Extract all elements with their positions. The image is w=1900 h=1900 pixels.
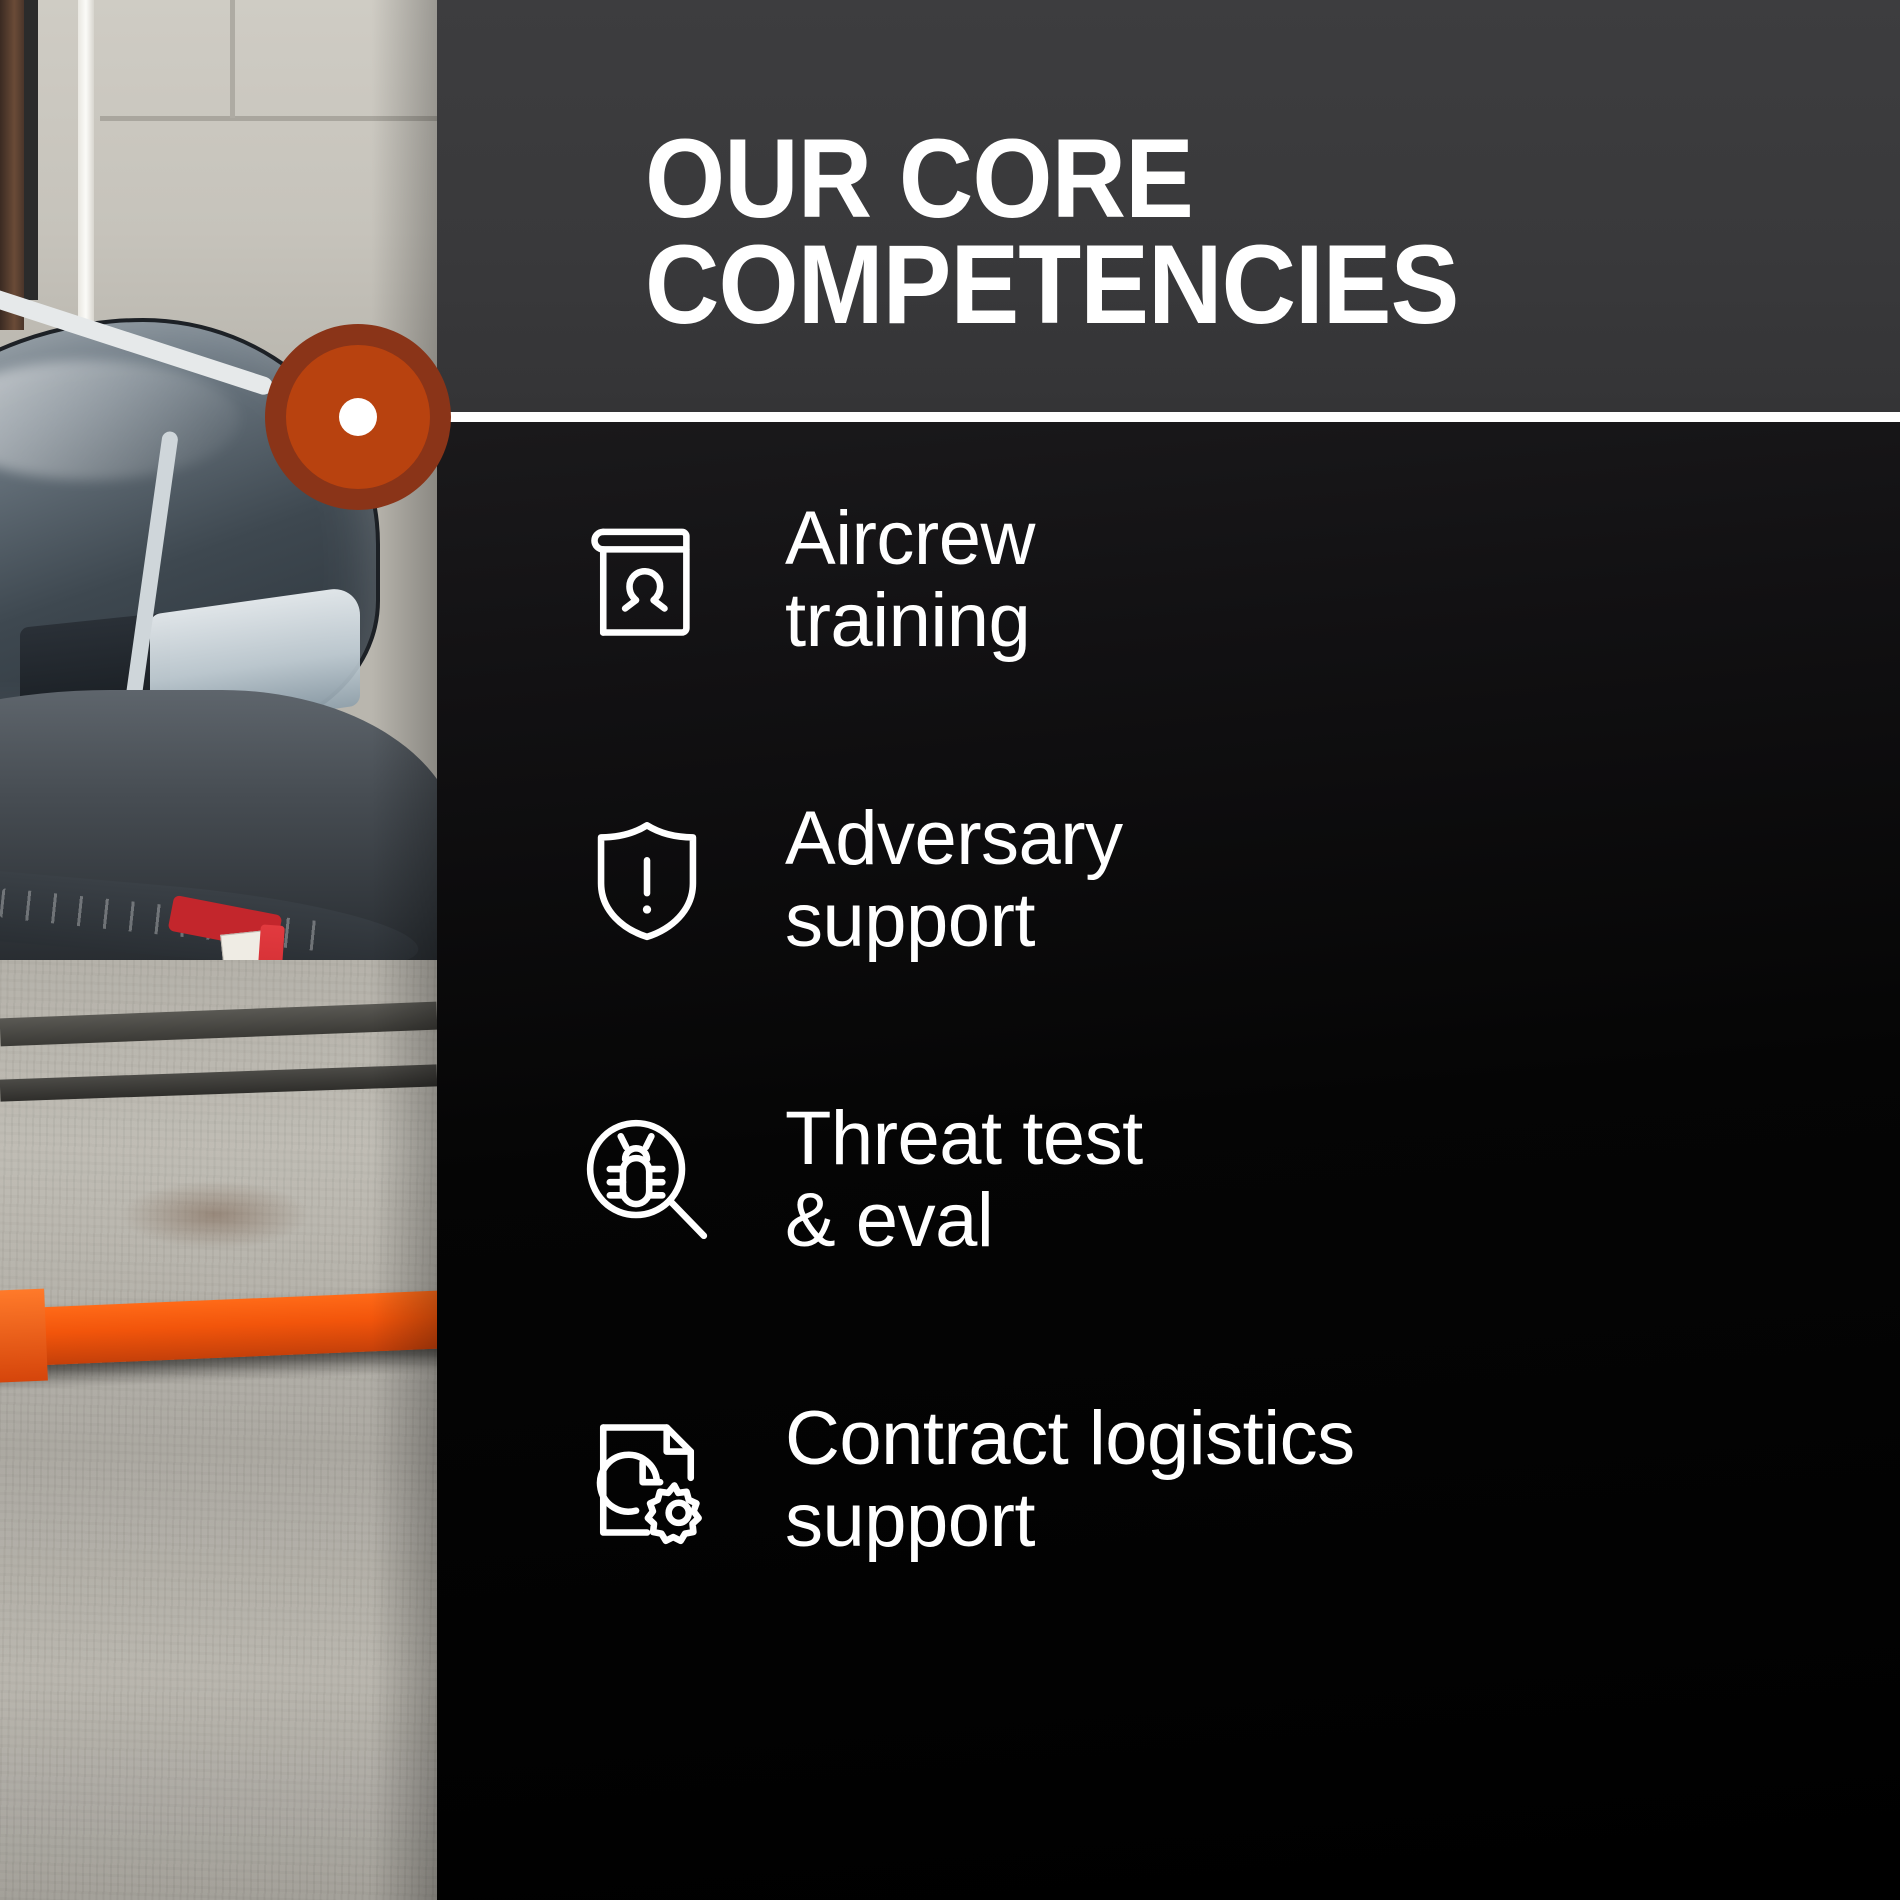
- wall-seam-vertical: [230, 0, 235, 118]
- door-frame-outer: [0, 0, 24, 330]
- document-clock-gear-icon: [537, 1410, 757, 1550]
- list-item-label: Adversary support: [785, 798, 1123, 962]
- floor-stain: [120, 1180, 310, 1250]
- list-item[interactable]: Contract logistics support: [437, 1340, 1900, 1620]
- page-title: OUR CORE COMPETENCIES: [645, 126, 1749, 339]
- accent-dot-core: [339, 398, 377, 436]
- list-item-label: Contract logistics support: [785, 1398, 1355, 1562]
- shield-alert-icon: [537, 810, 757, 950]
- list-item[interactable]: Aircrew training: [437, 440, 1900, 720]
- floor-texture: [0, 960, 437, 1900]
- door-frame-inner: [24, 0, 38, 300]
- orange-beam-end-cap: [0, 1289, 48, 1384]
- book-person-icon: [537, 510, 757, 650]
- competency-list: Aircrew training Adversary support: [437, 440, 1900, 1690]
- list-item[interactable]: Threat test & eval: [437, 1040, 1900, 1320]
- wall-seam-horizontal: [100, 116, 437, 121]
- list-item-label: Threat test & eval: [785, 1098, 1143, 1262]
- list-item-label: Aircrew training: [785, 498, 1035, 662]
- header-divider-rule: [358, 412, 1900, 422]
- bug-magnifier-icon: [537, 1110, 757, 1250]
- slide-canvas: OUR CORE COMPETENCIES Aircrew training: [0, 0, 1900, 1900]
- list-item[interactable]: Adversary support: [437, 740, 1900, 1020]
- window-mullion: [78, 0, 94, 330]
- hangar-photo: [0, 0, 437, 1900]
